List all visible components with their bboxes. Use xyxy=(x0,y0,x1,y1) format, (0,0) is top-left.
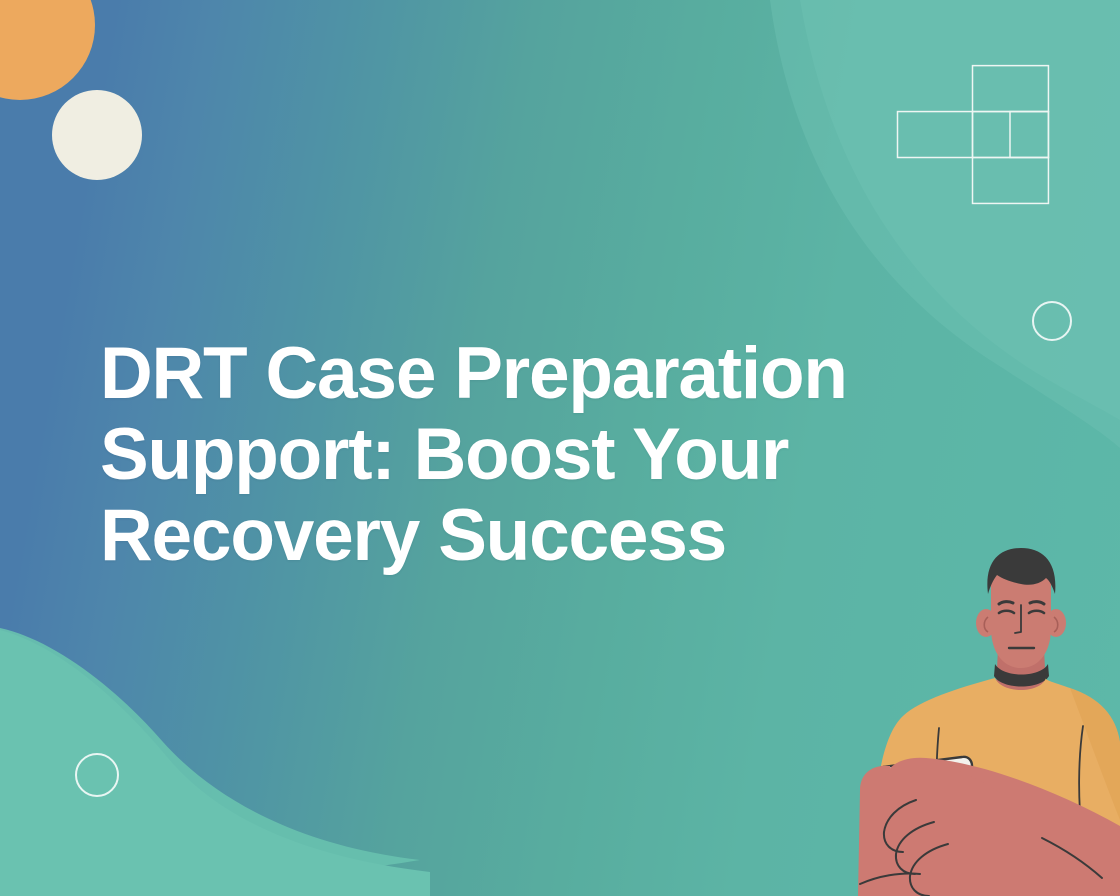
man-holding-phone-illustration xyxy=(0,0,1120,896)
social-banner: DRT Case Preparation Support: Boost Your… xyxy=(0,0,1120,896)
illustration-shapes xyxy=(0,0,1120,896)
